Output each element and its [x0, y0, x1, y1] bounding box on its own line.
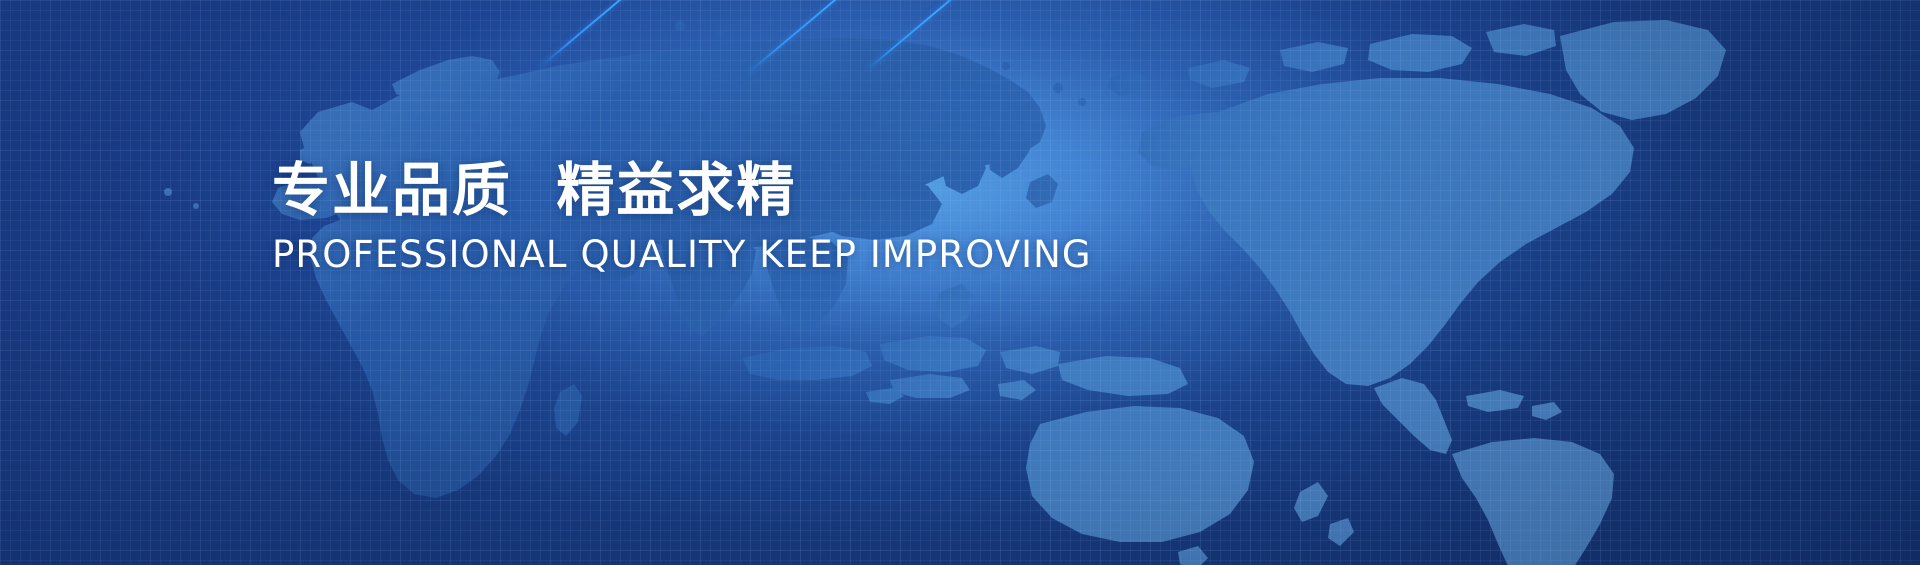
banner-text-block: 专业品质 精益求精 PROFESSIONAL QUALITY KEEP IMPR…	[272, 160, 1132, 276]
banner-headline-english: PROFESSIONAL QUALITY KEEP IMPROVING	[272, 233, 1132, 276]
background-gradient	[0, 0, 1920, 565]
banner-headline-chinese: 专业品质 精益求精	[272, 160, 1132, 221]
hero-banner: 专业品质 精益求精 PROFESSIONAL QUALITY KEEP IMPR…	[0, 0, 1920, 565]
